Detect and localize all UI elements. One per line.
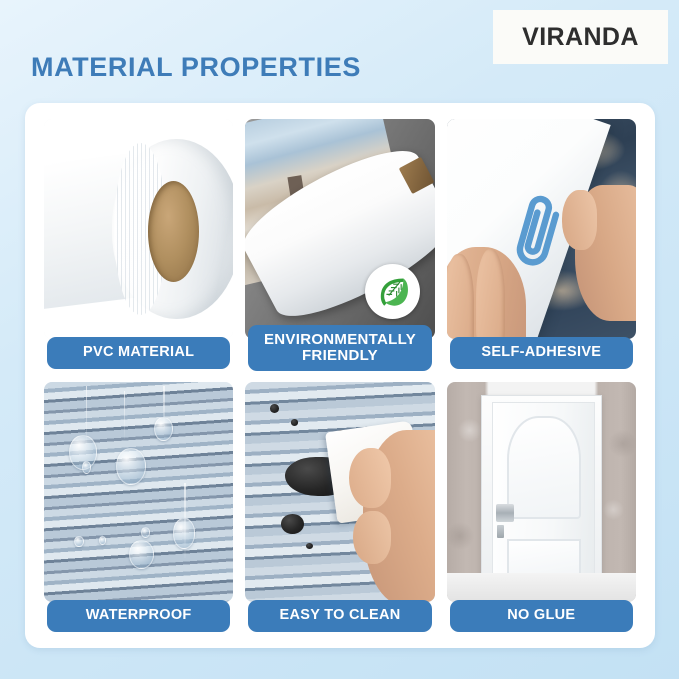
right-hand xyxy=(575,185,636,321)
water-droplet xyxy=(74,536,83,547)
self-adhesive-image xyxy=(447,119,636,339)
door-frame xyxy=(481,395,602,589)
feature-label-banner-no-glue: NO GLUE xyxy=(450,600,633,632)
feature-tile-pvc-material[interactable]: PVC MATERIAL xyxy=(44,119,233,369)
feature-tile-no-glue[interactable]: NO GLUE xyxy=(447,382,636,632)
feature-label-text: EASY TO CLEAN xyxy=(279,608,400,624)
skirting-board xyxy=(447,573,636,602)
stain-mark xyxy=(281,514,304,534)
feature-label-text: WATERPROOF xyxy=(86,608,192,624)
feature-tile-environmentally-friendly[interactable]: ENVIRONMENTALLY FRIENDLY xyxy=(245,119,434,369)
eco-roll-image xyxy=(245,119,434,339)
features-grid: PVC MATERIAL xyxy=(44,119,636,632)
page-title: MATERIAL PROPERTIES xyxy=(31,52,361,83)
feature-label-text: SELF-ADHESIVE xyxy=(481,345,601,361)
brand-name: VIRANDA xyxy=(522,23,639,52)
brand-logo: VIRANDA xyxy=(493,10,668,64)
feature-label-text: PVC MATERIAL xyxy=(83,345,194,361)
pvc-roll-image xyxy=(44,119,233,339)
water-droplet xyxy=(129,540,154,569)
feature-tile-easy-to-clean[interactable]: EASY TO CLEAN xyxy=(245,382,434,632)
door-slab xyxy=(492,402,594,588)
hand-holding-cloth xyxy=(363,430,435,602)
water-streak xyxy=(124,391,126,439)
feature-label-banner-environmentally-friendly: ENVIRONMENTALLY FRIENDLY xyxy=(248,325,431,371)
no-glue-image xyxy=(447,382,636,602)
easy-to-clean-image xyxy=(245,382,434,602)
feature-label-banner-pvc-material: PVC MATERIAL xyxy=(47,337,230,369)
door-handle xyxy=(496,504,513,522)
feature-label-banner-self-adhesive: SELF-ADHESIVE xyxy=(450,337,633,369)
wet-wood-surface xyxy=(44,382,233,602)
features-card: PVC MATERIAL xyxy=(25,103,655,648)
leaf-icon xyxy=(365,264,420,319)
feature-label-banner-waterproof: WATERPROOF xyxy=(47,600,230,632)
feature-label-text: ENVIRONMENTALLY FRIENDLY xyxy=(252,332,427,364)
feature-tile-waterproof[interactable]: WATERPROOF xyxy=(44,382,233,632)
pvc-cardboard-core xyxy=(148,181,199,282)
waterproof-image xyxy=(44,382,233,602)
feature-label-banner-easy-to-clean: EASY TO CLEAN xyxy=(248,600,431,632)
water-droplet xyxy=(154,417,173,441)
stain-mark xyxy=(270,404,279,413)
feature-tile-self-adhesive[interactable]: SELF-ADHESIVE xyxy=(447,119,636,369)
door-panel-top xyxy=(507,416,581,519)
water-droplet xyxy=(141,527,150,538)
feature-label-text: NO GLUE xyxy=(507,608,575,624)
